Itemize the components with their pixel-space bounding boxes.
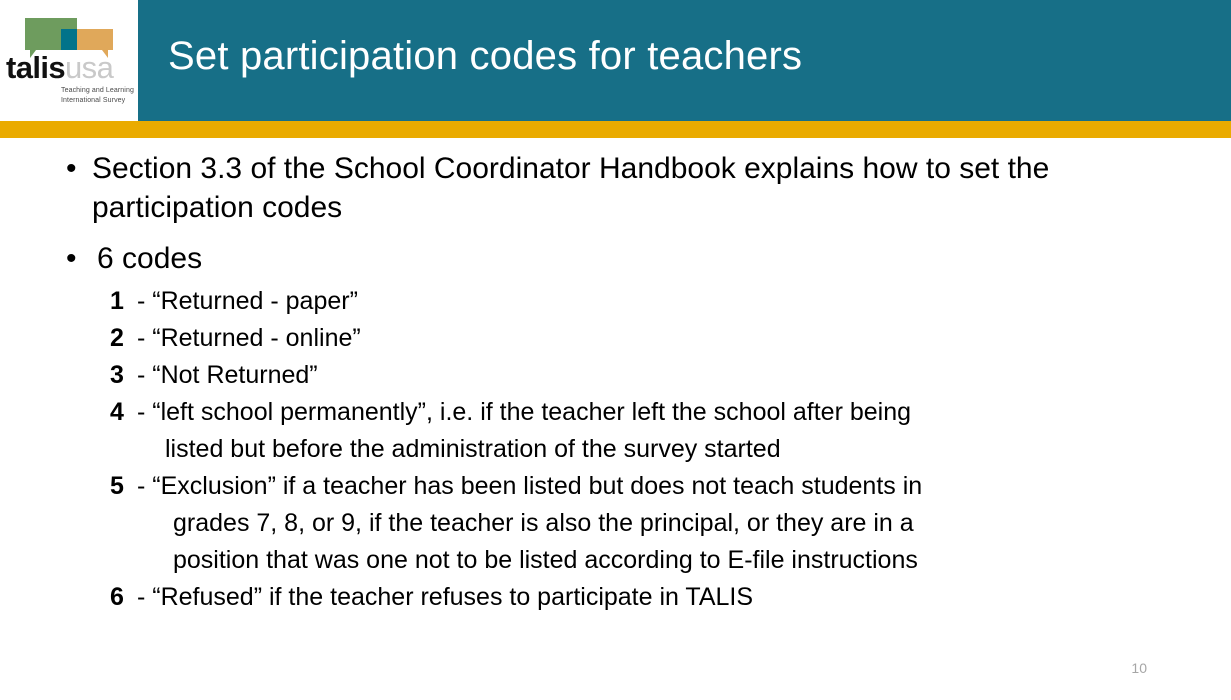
- code-number: 3: [110, 357, 130, 394]
- bullet-marker-icon: •: [66, 239, 77, 278]
- slide: talisusa Teaching and Learning Internati…: [0, 0, 1231, 700]
- list-item: 4 - “left school permanently”, i.e. if t…: [0, 394, 1231, 468]
- logo-tagline-line2: International Survey: [61, 96, 139, 106]
- code-line-2: listed but before the administration of …: [165, 431, 1091, 468]
- gold-accent-bar: [0, 121, 1231, 138]
- bullet-item-codes-text: 6 codes: [97, 239, 466, 278]
- list-item: 3 - “Not Returned”: [0, 357, 1231, 394]
- code-line-3: position that was one not to be listed a…: [173, 542, 1091, 579]
- logo-name-light: usa: [65, 50, 113, 85]
- list-item: 6 - “Refused” if the teacher refuses to …: [0, 579, 1231, 616]
- code-line-2: grades 7, 8, or 9, if the teacher is als…: [173, 505, 1091, 542]
- code-number: 4: [110, 394, 130, 431]
- code-line-1: - “left school permanently”, i.e. if the…: [137, 398, 911, 426]
- bullet-item-handbook: • Section 3.3 of the School Coordinator …: [66, 149, 1126, 227]
- talis-usa-logo: talisusa Teaching and Learning Internati…: [0, 0, 138, 121]
- page-number: 10: [1131, 660, 1147, 676]
- list-item: 1 - “Returned - paper”: [0, 283, 1231, 320]
- code-number: 2: [110, 320, 130, 357]
- page-title: Set participation codes for teachers: [168, 28, 1178, 84]
- code-number: 1: [110, 283, 130, 320]
- code-number: 5: [110, 468, 130, 505]
- logo-panel: talisusa Teaching and Learning Internati…: [0, 0, 138, 121]
- logo-wordmark: talisusa: [6, 52, 138, 83]
- bullet-marker-icon: •: [66, 149, 77, 188]
- slide-body: • Section 3.3 of the School Coordinator …: [0, 138, 1231, 700]
- code-line-1: - “Refused” if the teacher refuses to pa…: [137, 583, 753, 611]
- participation-code-list: 1 - “Returned - paper” 2 - “Returned - o…: [0, 283, 1231, 616]
- code-number: 6: [110, 579, 130, 616]
- code-description: - “Not Returned”: [137, 357, 1091, 394]
- code-line-1: - “Returned - online”: [137, 324, 361, 352]
- code-description: - “Returned - online”: [137, 320, 1091, 357]
- code-description: - “Refused” if the teacher refuses to pa…: [137, 579, 1091, 616]
- code-line-1: - “Returned - paper”: [137, 287, 358, 315]
- logo-tagline: Teaching and Learning International Surv…: [61, 86, 139, 105]
- code-description: - “Returned - paper”: [137, 283, 1091, 320]
- code-line-1: - “Exclusion” if a teacher has been list…: [137, 472, 922, 500]
- list-item: 2 - “Returned - online”: [0, 320, 1231, 357]
- code-description: - “Exclusion” if a teacher has been list…: [137, 468, 1091, 579]
- code-line-1: - “Not Returned”: [137, 361, 318, 389]
- bullet-item-codes: • 6 codes: [66, 239, 466, 278]
- logo-name-bold: talis: [6, 50, 65, 85]
- logo-tagline-line1: Teaching and Learning: [61, 86, 139, 96]
- bullet-item-handbook-text: Section 3.3 of the School Coordinator Ha…: [92, 149, 1126, 227]
- code-description: - “left school permanently”, i.e. if the…: [137, 394, 1091, 468]
- list-item: 5 - “Exclusion” if a teacher has been li…: [0, 468, 1231, 579]
